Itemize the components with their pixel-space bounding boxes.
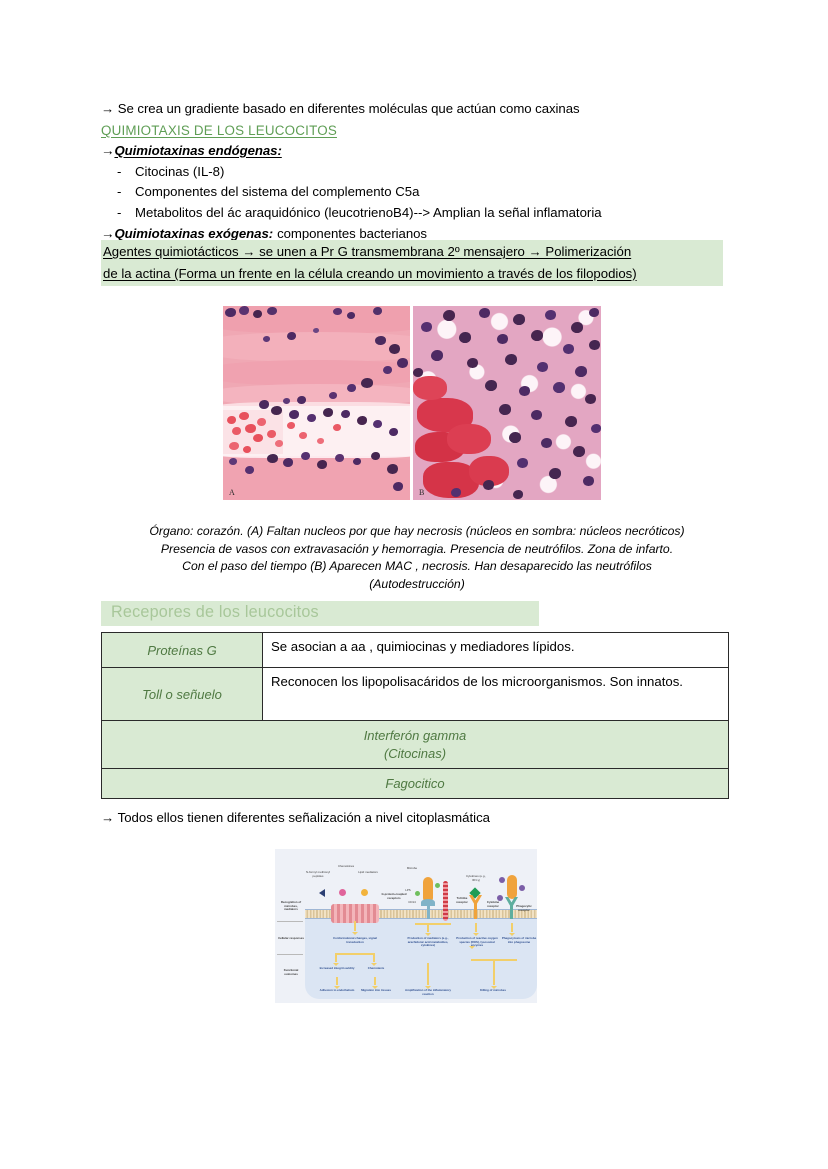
endogenous-label: Quimiotaxinas endógenas: — [114, 143, 281, 158]
chemokine-ligand-icon — [339, 889, 346, 896]
table-cell-text: Se asocian a aa , quimiocinas y mediador… — [263, 633, 729, 668]
caption-line: Con el paso del tiempo (B) Aparecen MAC … — [101, 558, 733, 576]
diagram-label: Microbe — [401, 867, 423, 871]
figure-caption: Órgano: corazón. (A) Faltan nucleos por … — [101, 523, 733, 593]
list-item: -Componentes del sistema del complemento… — [101, 182, 741, 203]
diagram-label: CD14 — [405, 901, 419, 905]
panel-divider — [410, 306, 413, 500]
opsonin-icon — [519, 885, 525, 891]
highlighted-note-box: Agentes quimiotácticos → se unen a Pr G … — [101, 240, 723, 286]
diagram-response-label: Production of reactive oxygen species (R… — [455, 937, 499, 948]
dash-bullet-icon: - — [117, 162, 121, 183]
lipid-mediator-ligand-icon — [361, 889, 368, 896]
list-item-label: Citocinas (IL-8) — [135, 164, 224, 179]
diagram-functional-label: Amplification of the inflammatory reacti… — [403, 989, 453, 996]
table-row: Toll o señuelo Reconocen los lipopolisac… — [102, 668, 729, 721]
endogenous-heading: →Quimiotaxinas endógenas: — [101, 141, 741, 162]
histology-panel-b: B — [413, 306, 601, 500]
diagram-response-label: Conformational changes, signal transduct… — [327, 937, 383, 944]
table-cell-line: (Citocinas) — [102, 745, 728, 763]
list-item: -Metabolitos del ác araquidónico (leucot… — [101, 203, 741, 224]
table-cell-line: Fagocitico — [102, 775, 728, 793]
table-row: Proteínas G Se asocian a aa , quimiocina… — [102, 633, 729, 668]
receptors-table: Proteínas G Se asocian a aa , quimiocina… — [101, 632, 729, 799]
caption-line: Órgano: corazón. (A) Faltan nucleos por … — [101, 523, 733, 541]
diagram-label: N-formyl methionyl peptides — [305, 871, 331, 878]
diagram-response-label: Phagocytosis of microbe into phagosome — [501, 937, 537, 944]
diagram-section-label: Recognition of microbes, mediators — [277, 901, 305, 912]
cd14-icon — [421, 899, 435, 906]
list-item-label: Metabolitos del ác araquidónico (leucotr… — [135, 205, 602, 220]
caption-line: Presencia de vasos con extravasación y h… — [101, 541, 733, 559]
table-cell-label: Toll o señuelo — [102, 668, 263, 721]
diagram-label: Chemokines — [333, 865, 359, 869]
table-cell-line: Interferón gamma — [102, 727, 728, 745]
formyl-peptide-ligand-icon — [319, 889, 325, 897]
table-cell-fullwidth: Interferón gamma (Citocinas) — [102, 721, 729, 769]
list-item-label: Componentes del sistema del complemento … — [135, 184, 419, 199]
diagram-functional-label: Adhesion to endothelium — [319, 989, 355, 993]
divider — [277, 921, 303, 922]
highlight-line-1: Agentes quimiotácticos → se unen a Pr G … — [103, 241, 723, 263]
diagram-label: G-protein-coupled receptors — [379, 893, 409, 900]
list-item: -Citocinas (IL-8) — [101, 162, 741, 183]
microbe-icon — [507, 875, 517, 899]
table-cell-fullwidth: Fagocitico — [102, 769, 729, 799]
diagram-label: Cytokine receptor — [481, 901, 505, 908]
diagram-label: Cytokines (e.g., IFN-γ) — [463, 875, 489, 882]
histology-figure-image: A — [223, 306, 601, 500]
diagram-outcome-label: Chemotaxis — [359, 967, 393, 971]
notes-text-block: → Se crea un gradiente basado en diferen… — [101, 99, 741, 245]
document-page: → Se crea un gradiente basado en diferen… — [0, 0, 828, 1169]
arrow-glyph-icon: → — [101, 226, 114, 241]
highlight-line-2: de la actina (Forma un frente en la célu… — [103, 263, 723, 285]
panel-b-label: B — [419, 488, 424, 497]
section-band: Recepores de los leucocitos — [101, 601, 539, 626]
diagram-section-label: Cellular responses — [277, 937, 305, 941]
lps-ligand-icon — [415, 891, 420, 896]
divider — [277, 954, 303, 955]
arrow-glyph-icon: → — [101, 143, 114, 158]
table-row: Interferón gamma (Citocinas) — [102, 721, 729, 769]
table-cell-text: Reconocen los lipopolisacáridos de los m… — [263, 668, 729, 721]
dash-bullet-icon: - — [117, 203, 121, 224]
diagram-section-label: Functional outcomes — [277, 969, 305, 976]
table-cell-label: Proteínas G — [102, 633, 263, 668]
diagram-label: Lipid mediators — [355, 871, 381, 875]
after-table-line: → Todos ellos tienen diferentes señaliza… — [101, 810, 490, 825]
diagram-outcome-label: Increased integrin avidity — [319, 967, 355, 971]
diagram-functional-label: Killing of microbes — [471, 989, 515, 993]
leukocyte-receptor-signalling-diagram: Recognition of microbes, mediators Cellu… — [275, 849, 537, 1003]
exogenous-value: componentes bacterianos — [277, 226, 427, 241]
caption-line: (Autodestrucción) — [101, 576, 733, 594]
diagram-response-label: Production of mediators (e.g., arachidon… — [407, 937, 449, 948]
dash-bullet-icon: - — [117, 182, 121, 203]
diagram-label: Phagocytic receptor — [513, 905, 535, 912]
toll-like-receptor-icon — [443, 881, 448, 921]
section-band-title: Recepores de los leucocitos — [111, 603, 319, 622]
diagram-label: LPS — [401, 889, 415, 893]
section-heading: QUIMIOTAXIS DE LOS LEUCOCITOS — [101, 120, 741, 141]
table-row: Fagocitico — [102, 769, 729, 799]
diagram-functional-label: Migration into tissues — [359, 989, 393, 993]
endogenous-list: -Citocinas (IL-8) -Componentes del siste… — [101, 162, 741, 224]
opsonin-icon — [497, 895, 503, 901]
exogenous-label: Quimiotaxinas exógenas: — [114, 226, 273, 241]
lps-ligand-icon — [435, 883, 440, 888]
histology-panel-a: A — [223, 306, 410, 500]
diagram-label: Toll-like receptor — [451, 897, 473, 904]
opsonin-icon — [499, 877, 505, 883]
intro-line: → Se crea un gradiente basado en diferen… — [101, 99, 741, 120]
panel-a-label: A — [229, 488, 235, 497]
